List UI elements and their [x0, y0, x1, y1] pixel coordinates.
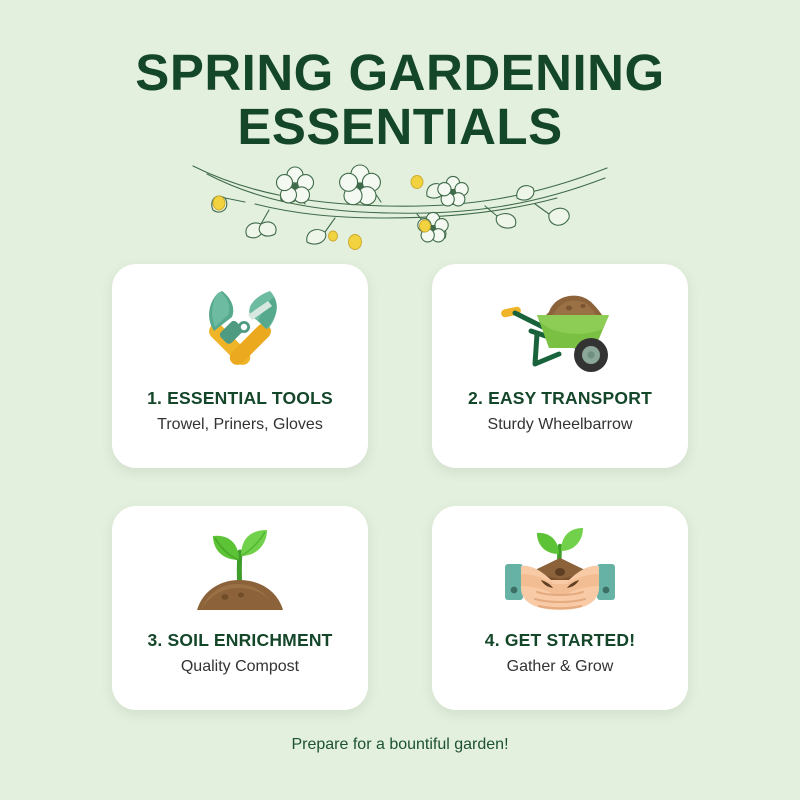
- card-subtitle: Sturdy Wheelbarrow: [488, 416, 633, 434]
- essentials-card-grid: 1. ESSENTIAL TOOLS Trowel, Priners, Glov…: [112, 264, 688, 710]
- card-soil-enrichment[interactable]: 3. SOIL ENRICHMENT Quality Compost: [112, 506, 368, 710]
- card-subtitle: Quality Compost: [181, 658, 299, 676]
- garden-tools-icon: [165, 278, 315, 382]
- card-title: 2. EASY TRANSPORT: [468, 388, 652, 409]
- card-get-started[interactable]: 4. GET STARTED! Gather & Grow: [432, 506, 688, 710]
- card-title: 3. SOIL ENRICHMENT: [147, 630, 332, 651]
- card-easy-transport[interactable]: 2. EASY TRANSPORT Sturdy Wheelbarrow: [432, 264, 688, 468]
- card-subtitle: Gather & Grow: [507, 658, 614, 676]
- wheelbarrow-icon: [485, 278, 635, 382]
- title-line-2: ESSENTIALS: [0, 100, 800, 154]
- seedling-soil-icon: [165, 520, 315, 624]
- poster-canvas: SPRING GARDENING ESSENTIALS: [0, 0, 800, 800]
- hands-holding-seedling-icon: [485, 520, 635, 624]
- card-title: 1. ESSENTIAL TOOLS: [147, 388, 333, 409]
- page-title: SPRING GARDENING ESSENTIALS: [0, 46, 800, 154]
- title-line-1: SPRING GARDENING: [0, 46, 800, 100]
- floral-branch-divider-icon: [185, 158, 615, 254]
- card-essential-tools[interactable]: 1. ESSENTIAL TOOLS Trowel, Priners, Glov…: [112, 264, 368, 468]
- card-subtitle: Trowel, Priners, Gloves: [157, 416, 323, 434]
- card-title: 4. GET STARTED!: [485, 630, 635, 651]
- footer-tagline: Prepare for a bountiful garden!: [0, 736, 800, 754]
